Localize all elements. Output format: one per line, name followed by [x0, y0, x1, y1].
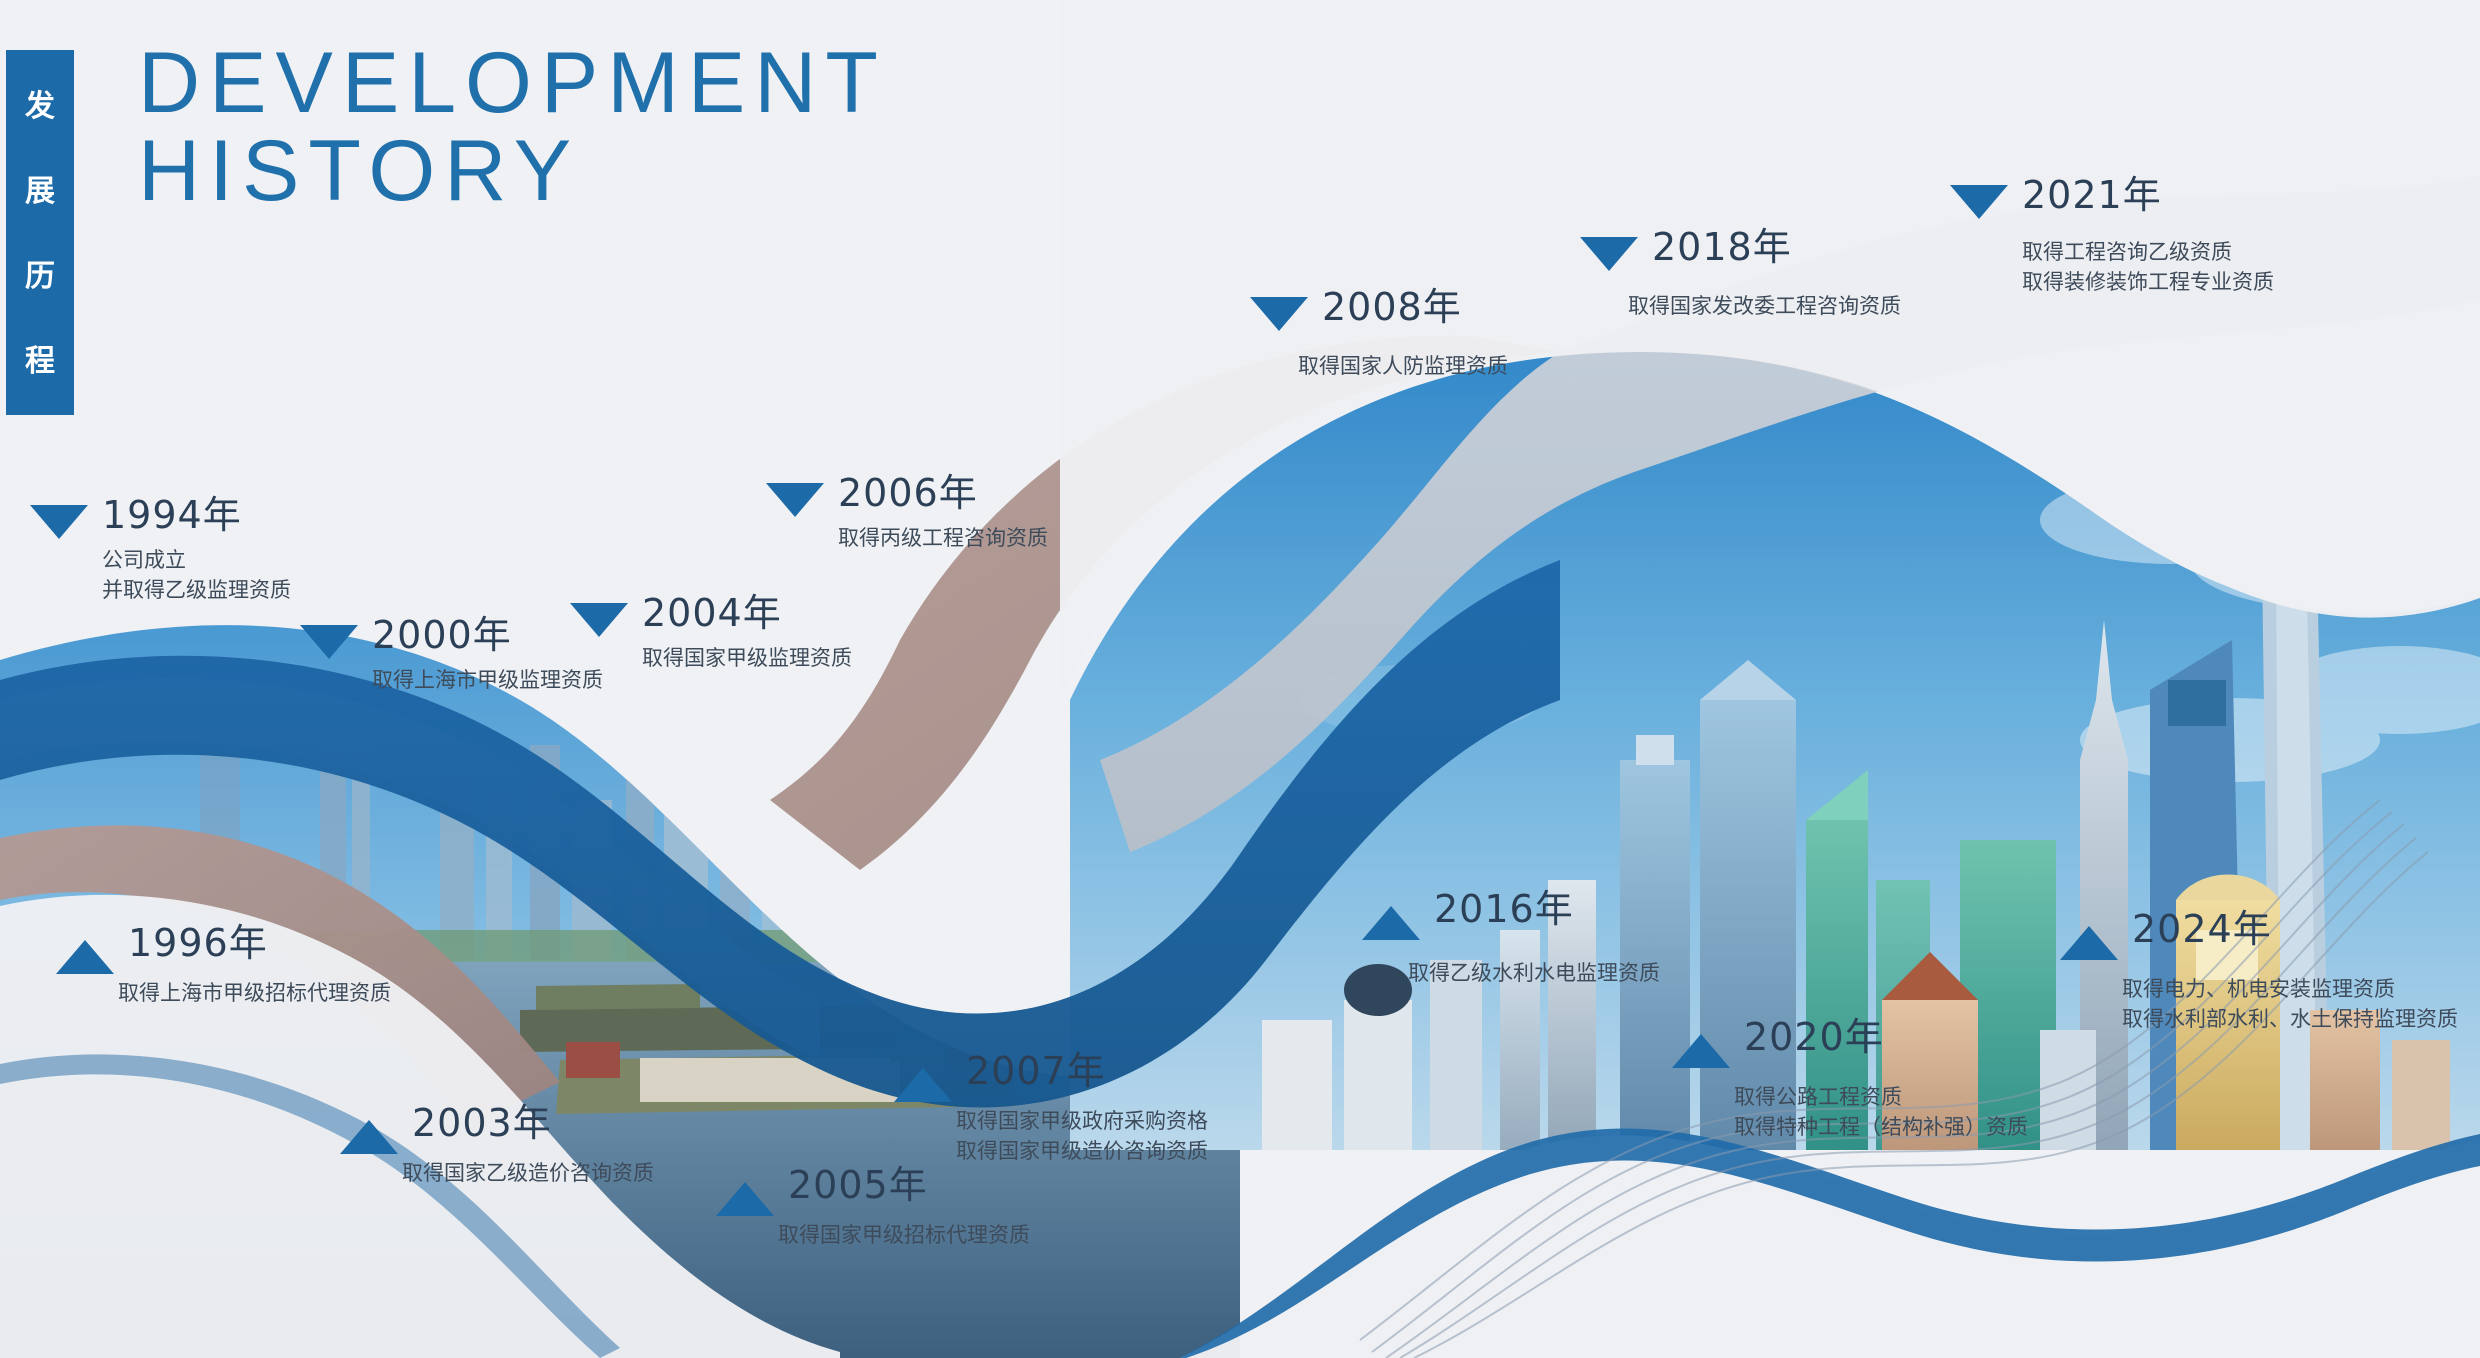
timeline-desc: 取得国家甲级监理资质: [642, 643, 852, 673]
headline-line-2: HISTORY: [138, 123, 580, 219]
page-title: DEVELOPMENTHISTORY: [138, 40, 887, 215]
triangle-up-icon: [716, 1182, 774, 1216]
timeline-item-2005[interactable]: 2005年 取得国家甲级招标代理资质: [716, 1166, 1030, 1250]
timeline-item-1996[interactable]: 1996年 取得上海市甲级招标代理资质: [56, 924, 391, 1008]
development-history-poster: 发 展 历 程 DEVELOPMENTHISTORY 1994年 公司成立 并取…: [0, 0, 2480, 1358]
timeline-item-2006[interactable]: 2006年 取得丙级工程咨询资质: [766, 474, 1048, 553]
vertical-char-3: 历: [25, 262, 55, 292]
timeline-desc: 取得公路工程资质 取得特种工程（结构补强）资质: [1734, 1082, 2028, 1143]
timeline-desc: 公司成立 并取得乙级监理资质: [102, 545, 291, 606]
timeline-item-2018[interactable]: 2018年 取得国家发改委工程咨询资质: [1580, 228, 1901, 321]
timeline-year: 1994年: [102, 496, 242, 534]
timeline-year: 2008年: [1322, 288, 1462, 326]
timeline-desc: 取得国家发改委工程咨询资质: [1628, 291, 1901, 321]
timeline-item-2008[interactable]: 2008年 取得国家人防监理资质: [1250, 288, 1508, 381]
triangle-up-icon: [2060, 926, 2118, 960]
timeline-item-2004[interactable]: 2004年 取得国家甲级监理资质: [570, 594, 852, 673]
timeline-year: 2018年: [1652, 228, 1792, 266]
timeline-desc: 取得电力、机电安装监理资质 取得水利部水利、水土保持监理资质: [2122, 974, 2458, 1035]
timeline-year: 1996年: [128, 924, 268, 962]
triangle-down-icon: [300, 625, 358, 659]
timeline-desc: 取得国家甲级政府采购资格 取得国家甲级造价咨询资质: [956, 1106, 1208, 1167]
timeline-desc: 取得国家人防监理资质: [1298, 351, 1508, 381]
triangle-down-icon: [1250, 297, 1308, 331]
vertical-char-1: 发: [25, 92, 55, 122]
timeline-desc: 取得丙级工程咨询资质: [838, 523, 1048, 553]
triangle-down-icon: [1950, 185, 2008, 219]
timeline-year: 2003年: [412, 1104, 552, 1142]
timeline-year: 2021年: [2022, 176, 2162, 214]
timeline-item-2003[interactable]: 2003年 取得国家乙级造价咨询资质: [340, 1104, 654, 1188]
timeline-item-2024[interactable]: 2024年 取得电力、机电安装监理资质 取得水利部水利、水土保持监理资质: [2060, 910, 2458, 1035]
vertical-title-banner: 发 展 历 程: [6, 50, 74, 415]
timeline-desc: 取得上海市甲级监理资质: [372, 665, 603, 695]
timeline-item-1994[interactable]: 1994年 公司成立 并取得乙级监理资质: [30, 496, 291, 606]
timeline-item-2021[interactable]: 2021年 取得工程咨询乙级资质 取得装修装饰工程专业资质: [1950, 176, 2274, 298]
timeline-year: 2004年: [642, 594, 782, 632]
triangle-down-icon: [570, 603, 628, 637]
triangle-down-icon: [30, 505, 88, 539]
timeline-year: 2016年: [1434, 890, 1574, 928]
timeline-item-2016[interactable]: 2016年 取得乙级水利水电监理资质: [1362, 890, 1660, 988]
triangle-down-icon: [766, 483, 824, 517]
timeline-desc: 取得乙级水利水电监理资质: [1408, 958, 1660, 988]
timeline-desc: 取得工程咨询乙级资质 取得装修装饰工程专业资质: [2022, 237, 2274, 298]
timeline-item-2007[interactable]: 2007年 取得国家甲级政府采购资格 取得国家甲级造价咨询资质: [894, 1052, 1208, 1167]
triangle-up-icon: [340, 1120, 398, 1154]
timeline-desc: 取得国家甲级招标代理资质: [778, 1220, 1030, 1250]
timeline-year: 2024年: [2132, 910, 2272, 948]
timeline-year: 2007年: [966, 1052, 1106, 1090]
vertical-char-2: 展: [25, 177, 55, 207]
vertical-char-4: 程: [25, 347, 55, 377]
timeline-item-2000[interactable]: 2000年 取得上海市甲级监理资质: [300, 616, 603, 695]
triangle-up-icon: [894, 1068, 952, 1102]
timeline-year: 2000年: [372, 616, 512, 654]
triangle-up-icon: [56, 940, 114, 974]
triangle-down-icon: [1580, 237, 1638, 271]
triangle-up-icon: [1362, 906, 1420, 940]
timeline-year: 2005年: [788, 1166, 928, 1204]
timeline-desc: 取得上海市甲级招标代理资质: [118, 978, 391, 1008]
timeline-year: 2006年: [838, 474, 978, 512]
timeline-item-2020[interactable]: 2020年 取得公路工程资质 取得特种工程（结构补强）资质: [1672, 1018, 2028, 1143]
timeline-desc: 取得国家乙级造价咨询资质: [402, 1158, 654, 1188]
timeline-year: 2020年: [1744, 1018, 1884, 1056]
triangle-up-icon: [1672, 1034, 1730, 1068]
headline-line-1: DEVELOPMENT: [138, 35, 887, 131]
